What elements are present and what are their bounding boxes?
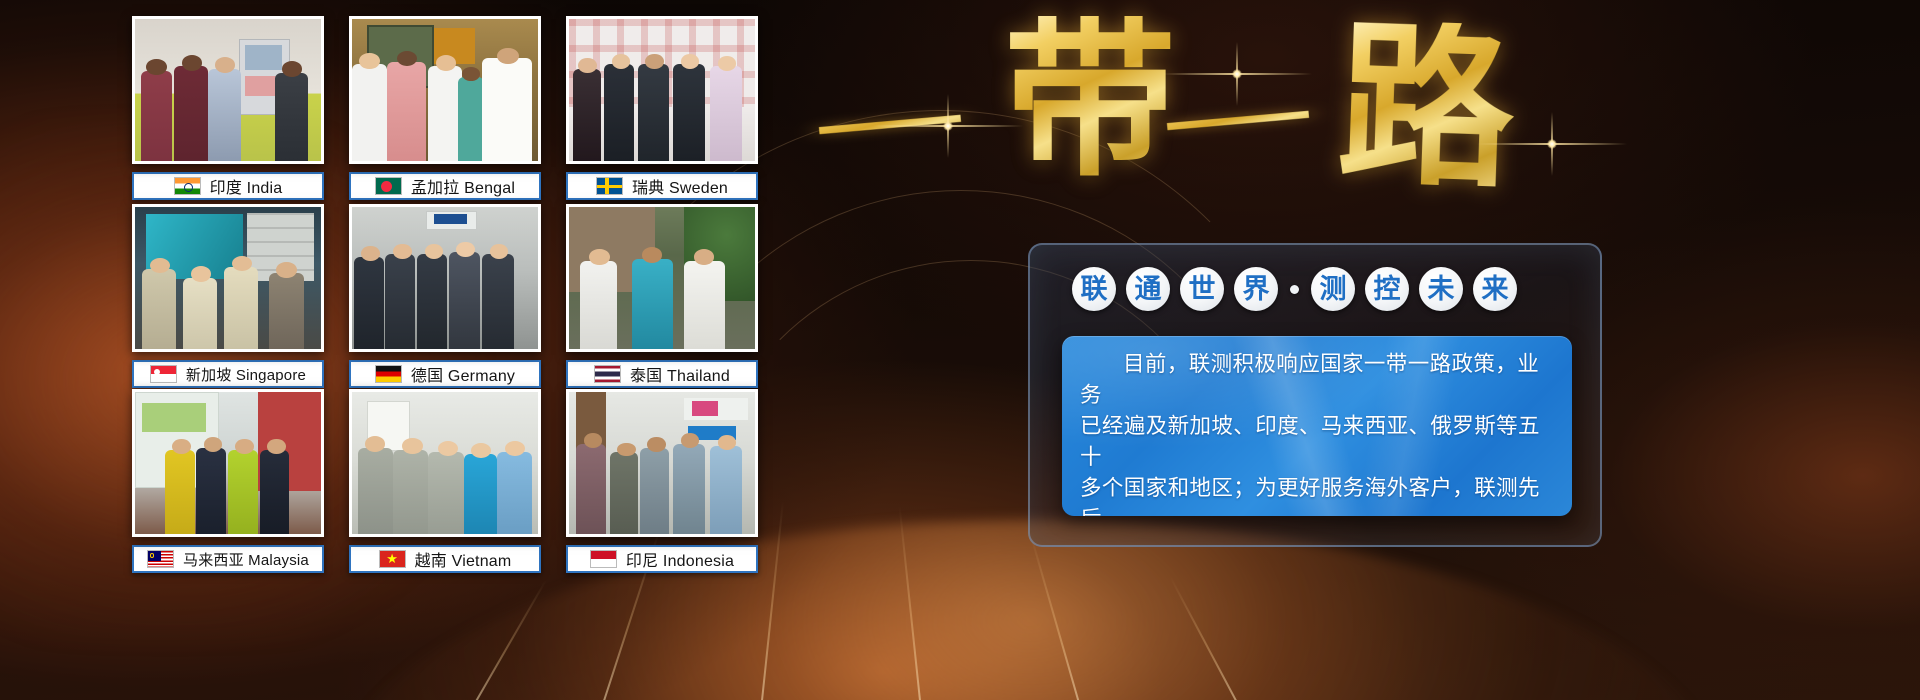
photo-india[interactable]: [132, 16, 324, 164]
grid-cell-vietnam[interactable]: 越南 Vietnam: [349, 389, 541, 573]
photo-singapore[interactable]: [132, 204, 324, 352]
photo-thailand[interactable]: [566, 204, 758, 352]
flag-bangladesh-icon: [375, 177, 402, 195]
label-text: 马来西亚 Malaysia: [183, 549, 309, 570]
description-line: 已经遍及新加坡、印度、马来西亚、俄罗斯等五十: [1080, 411, 1554, 473]
label-text: 印度 India: [210, 174, 283, 198]
slogan-bubble: 未: [1419, 267, 1463, 311]
grid-cell-singapore[interactable]: 新加坡 Singapore: [132, 204, 324, 388]
company-slogan: 联 通 世 界 测 控 未 来: [1072, 267, 1517, 311]
flag-malaysia-icon: [147, 550, 174, 568]
slogan-char: 测: [1320, 276, 1347, 303]
grid-cell-bengal[interactable]: 孟加拉 Bengal: [349, 16, 541, 200]
description-line: 多个国家和地区；为更好服务海外客户，联测先后: [1080, 473, 1554, 516]
slogan-char: 未: [1428, 276, 1455, 303]
slogan-bubble: 界: [1234, 267, 1278, 311]
photo-vietnam[interactable]: [349, 389, 541, 537]
flag-india-icon: [174, 177, 201, 195]
grid-cell-thailand[interactable]: 泰国 Thailand: [566, 204, 758, 388]
label-singapore[interactable]: 新加坡 Singapore: [132, 360, 324, 388]
belt-and-road-calligraphy: 一 带 一 路: [826, 8, 1586, 188]
label-bengal[interactable]: 孟加拉 Bengal: [349, 172, 541, 200]
flag-germany-icon: [375, 365, 402, 383]
slogan-char: 界: [1243, 276, 1270, 303]
label-india[interactable]: 印度 India: [132, 172, 324, 200]
label-sweden[interactable]: 瑞典 Sweden: [566, 172, 758, 200]
flag-vietnam-icon: [379, 550, 406, 568]
slogan-bubble: 控: [1365, 267, 1409, 311]
flag-indonesia-icon: [590, 550, 617, 568]
slogan-bubble: 测: [1311, 267, 1355, 311]
slogan-bubble: 通: [1126, 267, 1170, 311]
slogan-separator-dot: [1290, 285, 1299, 294]
grid-cell-indonesia[interactable]: 印尼 Indonesia: [566, 389, 758, 573]
label-thailand[interactable]: 泰国 Thailand: [566, 360, 758, 388]
flag-thailand-icon: [594, 365, 621, 383]
calligraphy-char-3: 一: [1161, 86, 1316, 161]
calligraphy-char-1: 一: [813, 90, 968, 165]
slogan-bubble: 联: [1072, 267, 1116, 311]
flag-sweden-icon: [596, 177, 623, 195]
grid-cell-india[interactable]: 印度 India: [132, 16, 324, 200]
slogan-char: 控: [1374, 276, 1401, 303]
overseas-photo-grid: 印度 India: [132, 16, 758, 682]
label-text: 泰国 Thailand: [630, 362, 730, 386]
photo-indonesia[interactable]: [566, 389, 758, 537]
label-text: 印尼 Indonesia: [626, 547, 734, 571]
description-line: 目前，联测积极响应国家一带一路政策，业务: [1080, 349, 1554, 411]
slogan-bubble: 世: [1180, 267, 1224, 311]
label-germany[interactable]: 德国 Germany: [349, 360, 541, 388]
grid-cell-germany[interactable]: 德国 Germany: [349, 204, 541, 388]
photo-bengal[interactable]: [349, 16, 541, 164]
slogan-char: 联: [1081, 276, 1108, 303]
label-text: 孟加拉 Bengal: [411, 174, 515, 198]
slogan-char: 通: [1135, 276, 1162, 303]
grid-cell-sweden[interactable]: 瑞典 Sweden: [566, 16, 758, 200]
flag-singapore-icon: [150, 365, 177, 383]
label-text: 新加坡 Singapore: [186, 364, 306, 385]
label-indonesia[interactable]: 印尼 Indonesia: [566, 545, 758, 573]
label-vietnam[interactable]: 越南 Vietnam: [349, 545, 541, 573]
grid-cell-malaysia[interactable]: 马来西亚 Malaysia: [132, 389, 324, 573]
slogan-bubble: 来: [1473, 267, 1517, 311]
photo-germany[interactable]: [349, 204, 541, 352]
label-text: 越南 Vietnam: [415, 547, 512, 571]
label-malaysia[interactable]: 马来西亚 Malaysia: [132, 545, 324, 573]
calligraphy-char-2: 带: [1004, 16, 1176, 188]
label-text: 瑞典 Sweden: [632, 174, 728, 198]
banner-stage: 印度 India: [0, 0, 1920, 700]
photo-malaysia[interactable]: [132, 389, 324, 537]
slogan-char: 来: [1482, 276, 1509, 303]
calligraphy-char-4: 路: [1335, 19, 1517, 201]
photo-sweden[interactable]: [566, 16, 758, 164]
slogan-char: 世: [1189, 276, 1216, 303]
overseas-business-description: 目前，联测积极响应国家一带一路政策，业务 已经遍及新加坡、印度、马来西亚、俄罗斯…: [1062, 336, 1572, 516]
label-text: 德国 Germany: [411, 362, 515, 386]
